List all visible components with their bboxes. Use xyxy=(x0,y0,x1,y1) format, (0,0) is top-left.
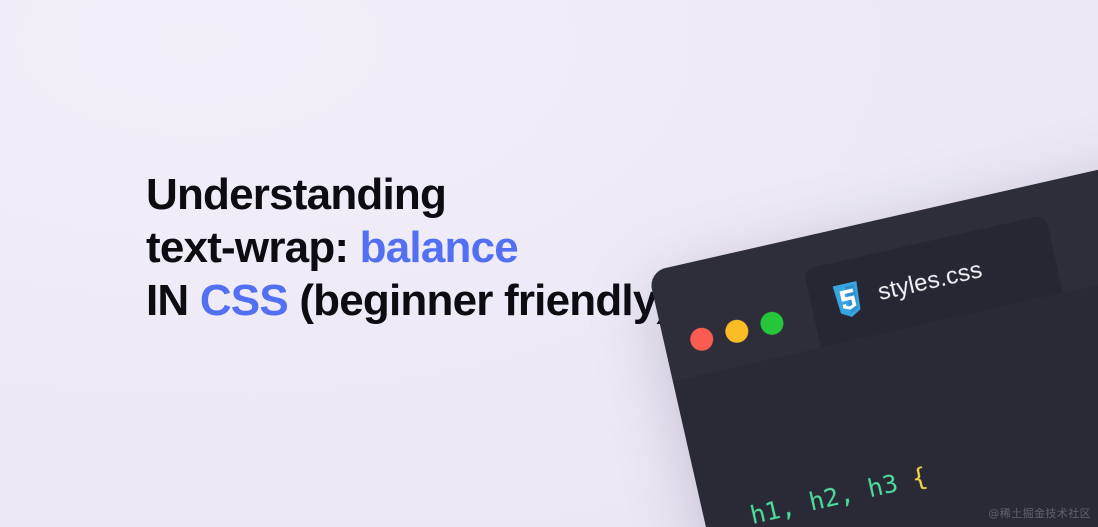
headline-line-1-text: Understanding xyxy=(146,170,446,219)
watermark: @稀土掘金技术社区 xyxy=(988,505,1091,521)
minimize-button[interactable] xyxy=(723,318,751,346)
code-editor-window-wrapper: styles.css + h1, h2, h3 { text-wrap: bal… xyxy=(648,130,1098,527)
code-line-1: h1, h2, h3 { xyxy=(746,362,1098,527)
css3-shield-icon xyxy=(830,280,867,320)
code-editor-window: styles.css + h1, h2, h3 { text-wrap: bal… xyxy=(648,130,1098,527)
headline-line-3-prefix: IN xyxy=(146,276,200,325)
tab-label: styles.css xyxy=(875,256,985,307)
slide-canvas: Understanding text-wrap: balance IN CSS … xyxy=(0,0,1098,527)
maximize-button[interactable] xyxy=(758,310,786,338)
code-selectors: h1, h2, h3 xyxy=(747,468,900,527)
headline-line-1: Understanding xyxy=(146,168,682,221)
close-button[interactable] xyxy=(688,326,716,354)
code-open-brace: { xyxy=(909,462,930,494)
headline-line-2-prefix: text-wrap: xyxy=(146,223,360,272)
window-controls xyxy=(688,310,786,353)
headline-line-3-suffix: (beginner friendly). xyxy=(288,276,682,325)
headline-line-3-accent: CSS xyxy=(200,276,288,325)
headline-line-3: IN CSS (beginner friendly). xyxy=(146,274,682,327)
headline-line-2-accent: balance xyxy=(360,223,518,272)
page-title: Understanding text-wrap: balance IN CSS … xyxy=(146,168,682,327)
headline-line-2: text-wrap: balance xyxy=(146,221,682,274)
